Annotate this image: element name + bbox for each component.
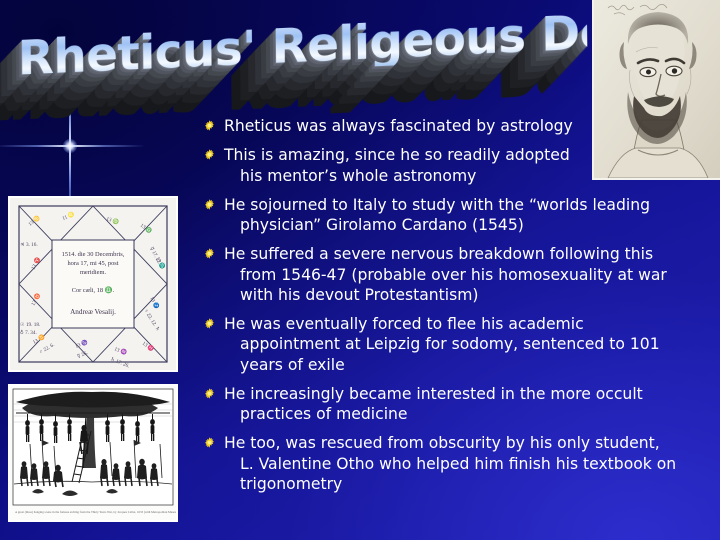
bullet-line: trigonometry — [224, 474, 712, 494]
svg-text:☉ 19. 18.: ☉ 19. 18. — [20, 322, 40, 328]
sparkle-core — [63, 139, 77, 153]
list-item-text: He too, was rescued from obscurity by hi… — [223, 433, 712, 494]
svg-text:♁ 7. 34.: ♁ 7. 34. — [20, 329, 37, 336]
bullet-line: He was eventually forced to flee his aca… — [224, 315, 584, 333]
list-item-text: He increasingly became interested in the… — [223, 384, 712, 425]
pencil-sketch-portrait-image — [592, 0, 720, 180]
sunburst-bullet-icon — [204, 120, 223, 131]
natal-horoscope-chart-image: 1514. die 30 Decembris, hora 17, mi 45, … — [8, 196, 178, 372]
sparkle-horizontal-beam — [0, 145, 145, 147]
mass-hanging-engraving-image: A great (three) hanging scene in the fam… — [8, 384, 178, 522]
bullet-line: He increasingly became interested in the… — [224, 385, 643, 403]
slide-title-text: Rheticus' Religeous Demons — [7, 0, 587, 83]
bullet-line: He suffered a severe nervous breakdown f… — [224, 245, 653, 263]
sunburst-bullet-icon — [204, 437, 223, 448]
sunburst-bullet-icon — [204, 318, 223, 329]
sunburst-bullet-icon — [204, 199, 223, 210]
bullet-line: with his devout Protestantism) — [224, 285, 712, 305]
list-item-text: He sojourned to Italy to study with the … — [223, 195, 712, 236]
sunburst-bullet-icon — [204, 149, 223, 160]
bullet-line: Rheticus was always fascinated by astrol… — [224, 117, 573, 135]
list-item-text: He was eventually forced to flee his aca… — [223, 314, 712, 375]
svg-text:Cor cæli, 18 ♎.: Cor cæli, 18 ♎. — [72, 286, 115, 294]
list-item: He sojourned to Italy to study with the … — [204, 195, 712, 236]
list-item-text: He suffered a severe nervous breakdown f… — [223, 244, 712, 305]
bullet-line: physician” Girolamo Cardano (1545) — [224, 215, 712, 235]
bullet-line: years of exile — [224, 355, 712, 375]
svg-text:hora 17, mi 45, post: hora 17, mi 45, post — [67, 260, 118, 267]
sunburst-bullet-icon — [204, 248, 223, 259]
bullet-line: appointment at Leipzig for sodomy, sente… — [224, 334, 712, 354]
list-item: He too, was rescued from obscurity by hi… — [204, 433, 712, 494]
list-item: He increasingly became interested in the… — [204, 384, 712, 425]
slide-title: Rheticus' Religeous Demons — [8, 22, 588, 104]
bullet-line: L. Valentine Otho who helped him finish … — [224, 454, 712, 474]
list-item: He was eventually forced to flee his aca… — [204, 314, 712, 375]
slide-canvas: Rheticus' Religeous Demons Rheticus was … — [0, 0, 720, 540]
sunburst-bullet-icon — [204, 388, 223, 399]
bullet-line: practices of medicine — [224, 404, 712, 424]
bullet-line: He too, was rescued from obscurity by hi… — [224, 434, 660, 452]
svg-text:meridiem.: meridiem. — [80, 269, 106, 276]
bullet-line: He sojourned to Italy to study with the … — [224, 196, 650, 214]
svg-text:1514. die 30 Decembris,: 1514. die 30 Decembris, — [62, 251, 125, 258]
bullet-line: This is amazing, since he so readily ado… — [224, 146, 570, 164]
list-item: He suffered a severe nervous breakdown f… — [204, 244, 712, 305]
bullet-line: from 1546-47 (probable over his homosexu… — [224, 265, 712, 285]
svg-text:♃ 3. 16.: ♃ 3. 16. — [20, 242, 38, 248]
svg-text:Andreæ Vesalij.: Andreæ Vesalij. — [70, 308, 116, 316]
